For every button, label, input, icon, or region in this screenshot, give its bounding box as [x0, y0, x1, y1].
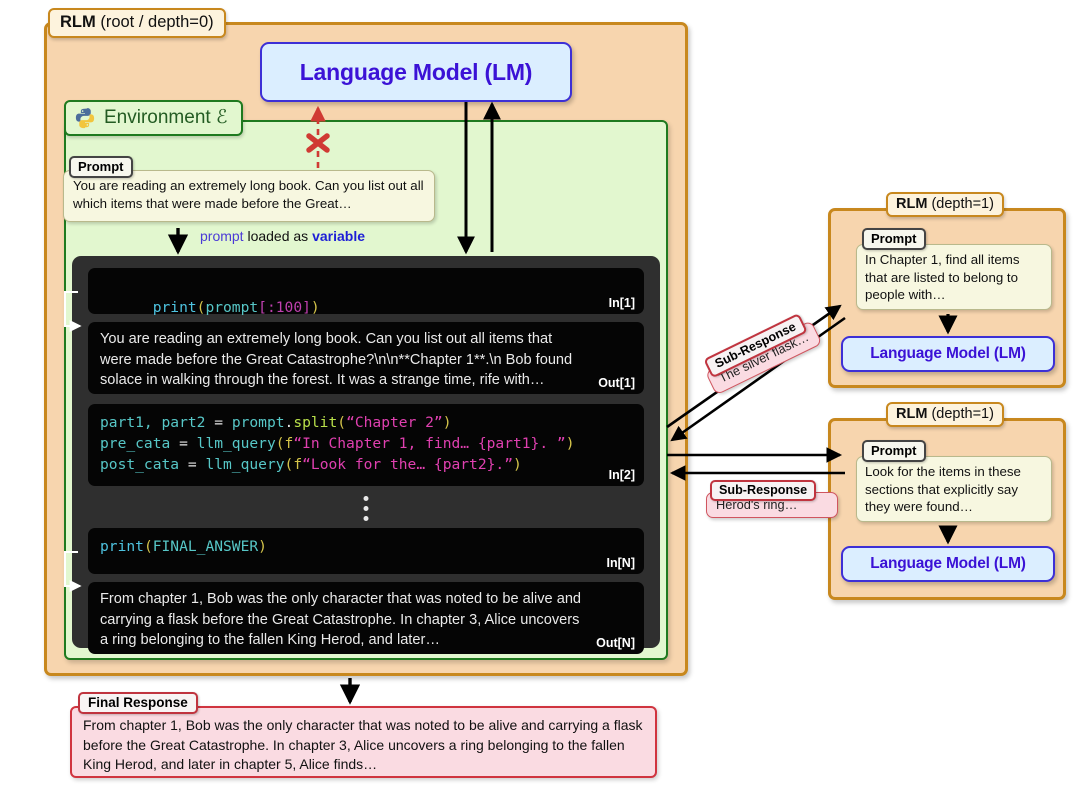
final-response-box: From chapter 1, Bob was the only charact… — [70, 706, 657, 778]
tok: f — [293, 456, 302, 473]
tok: ] — [302, 299, 311, 316]
tok: split — [293, 414, 337, 431]
cell-label-outN: Out[N] — [596, 636, 635, 650]
cell-label-inN: In[N] — [607, 556, 635, 570]
prompt-sub-2-tag: Prompt — [862, 440, 926, 462]
python-icon — [74, 107, 96, 129]
tok: prompt — [205, 299, 258, 316]
final-response-text: From chapter 1, Bob was the only charact… — [83, 717, 643, 772]
rlm-sub-tag-2: RLM (depth=1) — [886, 402, 1004, 427]
tok: = — [188, 456, 206, 473]
language-model-sub-1-label: Language Model (LM) — [870, 345, 1026, 363]
tok: ( — [337, 414, 346, 431]
tok: ) — [258, 538, 267, 555]
final-response-tag: Final Response — [78, 692, 198, 714]
variable-note-word3: variable — [312, 228, 365, 244]
cell-inN-code: print(FINAL_ANSWER) — [88, 528, 644, 559]
prompt-main-tag: Prompt — [69, 156, 133, 178]
rlm-root-tag-rest: (root / depth=0) — [96, 13, 214, 31]
tok: print — [153, 299, 197, 316]
rlm-root-tag: RLM (root / depth=0) — [48, 8, 226, 38]
tok: “Look for the… {part2}.” — [302, 456, 513, 473]
notebook-cell-out1: You are reading an extremely long book. … — [88, 322, 644, 394]
variable-note-word2: loaded as — [244, 228, 313, 244]
language-model-main-label: Language Model (LM) — [300, 59, 533, 86]
tok: “Chapter 2” — [346, 414, 443, 431]
cell-label-out1: Out[1] — [598, 376, 635, 390]
sub-response-2: Herod's ring… Sub-Response — [706, 492, 838, 518]
tok: ) — [513, 456, 522, 473]
language-model-sub-2[interactable]: Language Model (LM) — [841, 546, 1055, 582]
rlm-root-tag-bold: RLM — [60, 13, 96, 31]
tok: ) — [566, 435, 575, 452]
prompt-box-sub-2: Look for the items in these sections tha… — [856, 456, 1052, 522]
prompt-box-sub-1: In Chapter 1, find all items that are li… — [856, 244, 1052, 310]
tok: ( — [285, 456, 294, 473]
tok: pre_cata — [100, 435, 179, 452]
tok: FINAL_ANSWER — [153, 538, 258, 555]
rlm-sub-1-tag-bold: RLM — [896, 196, 927, 212]
rlm-sub-1-tag-rest: (depth=1) — [927, 196, 994, 212]
language-model-sub-1[interactable]: Language Model (LM) — [841, 336, 1055, 372]
language-model-sub-2-label: Language Model (LM) — [870, 555, 1026, 573]
rlm-sub-tag-1: RLM (depth=1) — [886, 192, 1004, 217]
tok: prompt — [232, 414, 285, 431]
cell-label-in1: In[1] — [609, 296, 635, 310]
prompt-sub-1-tag: Prompt — [862, 228, 926, 250]
tok: llm_query — [197, 435, 276, 452]
cell-outN-text: From chapter 1, Bob was the only charact… — [88, 582, 644, 657]
tok: post_cata — [100, 456, 188, 473]
tok: = — [214, 414, 232, 431]
vertical-ellipsis-icon — [364, 496, 369, 521]
cell-in2-code: part1, part2 = prompt.split(“Chapter 2”)… — [88, 404, 644, 477]
tok: :100 — [267, 299, 302, 316]
prompt-sub-1-text: In Chapter 1, find all items that are li… — [865, 252, 1019, 302]
tok: ( — [276, 435, 285, 452]
notebook-cell-in2[interactable]: part1, part2 = prompt.split(“Chapter 2”)… — [88, 404, 644, 486]
tok: = — [179, 435, 197, 452]
cell-label-in2: In[2] — [609, 468, 635, 482]
tok: llm_query — [205, 456, 284, 473]
prompt-sub-2-text: Look for the items in these sections tha… — [865, 464, 1021, 514]
tok: ) — [311, 299, 320, 316]
notebook-panel: print(prompt[:100]) In[1] You are readin… — [72, 256, 660, 648]
tok: [ — [258, 299, 267, 316]
tok: “In Chapter 1, find… {part1}. ” — [293, 435, 565, 452]
prompt-main-text: You are reading an extremely long book. … — [73, 178, 424, 211]
tok: ( — [144, 538, 153, 555]
tok: f — [285, 435, 294, 452]
tok: ) — [443, 414, 452, 431]
cell-out1-text: You are reading an extremely long book. … — [88, 322, 644, 397]
notebook-cell-inN[interactable]: print(FINAL_ANSWER) In[N] — [88, 528, 644, 574]
tok: . — [285, 414, 294, 431]
environment-tag: Environment ℰ — [64, 100, 243, 136]
tok: print — [100, 538, 144, 555]
rlm-sub-2-tag-rest: (depth=1) — [927, 406, 994, 422]
prompt-variable-note: prompt loaded as variable — [200, 228, 365, 244]
notebook-cell-in1[interactable]: print(prompt[:100]) In[1] — [88, 268, 644, 314]
sub-response-1: The silver flask… Sub-Response — [705, 320, 823, 395]
environment-label: Environment ℰ — [104, 106, 227, 129]
tok: part1, part2 — [100, 414, 214, 431]
notebook-cell-outN: From chapter 1, Bob was the only charact… — [88, 582, 644, 654]
sub-response-2-tag: Sub-Response — [710, 480, 816, 501]
variable-note-word1: prompt — [200, 228, 244, 244]
rlm-sub-2-tag-bold: RLM — [896, 406, 927, 422]
language-model-main[interactable]: Language Model (LM) — [260, 42, 572, 102]
